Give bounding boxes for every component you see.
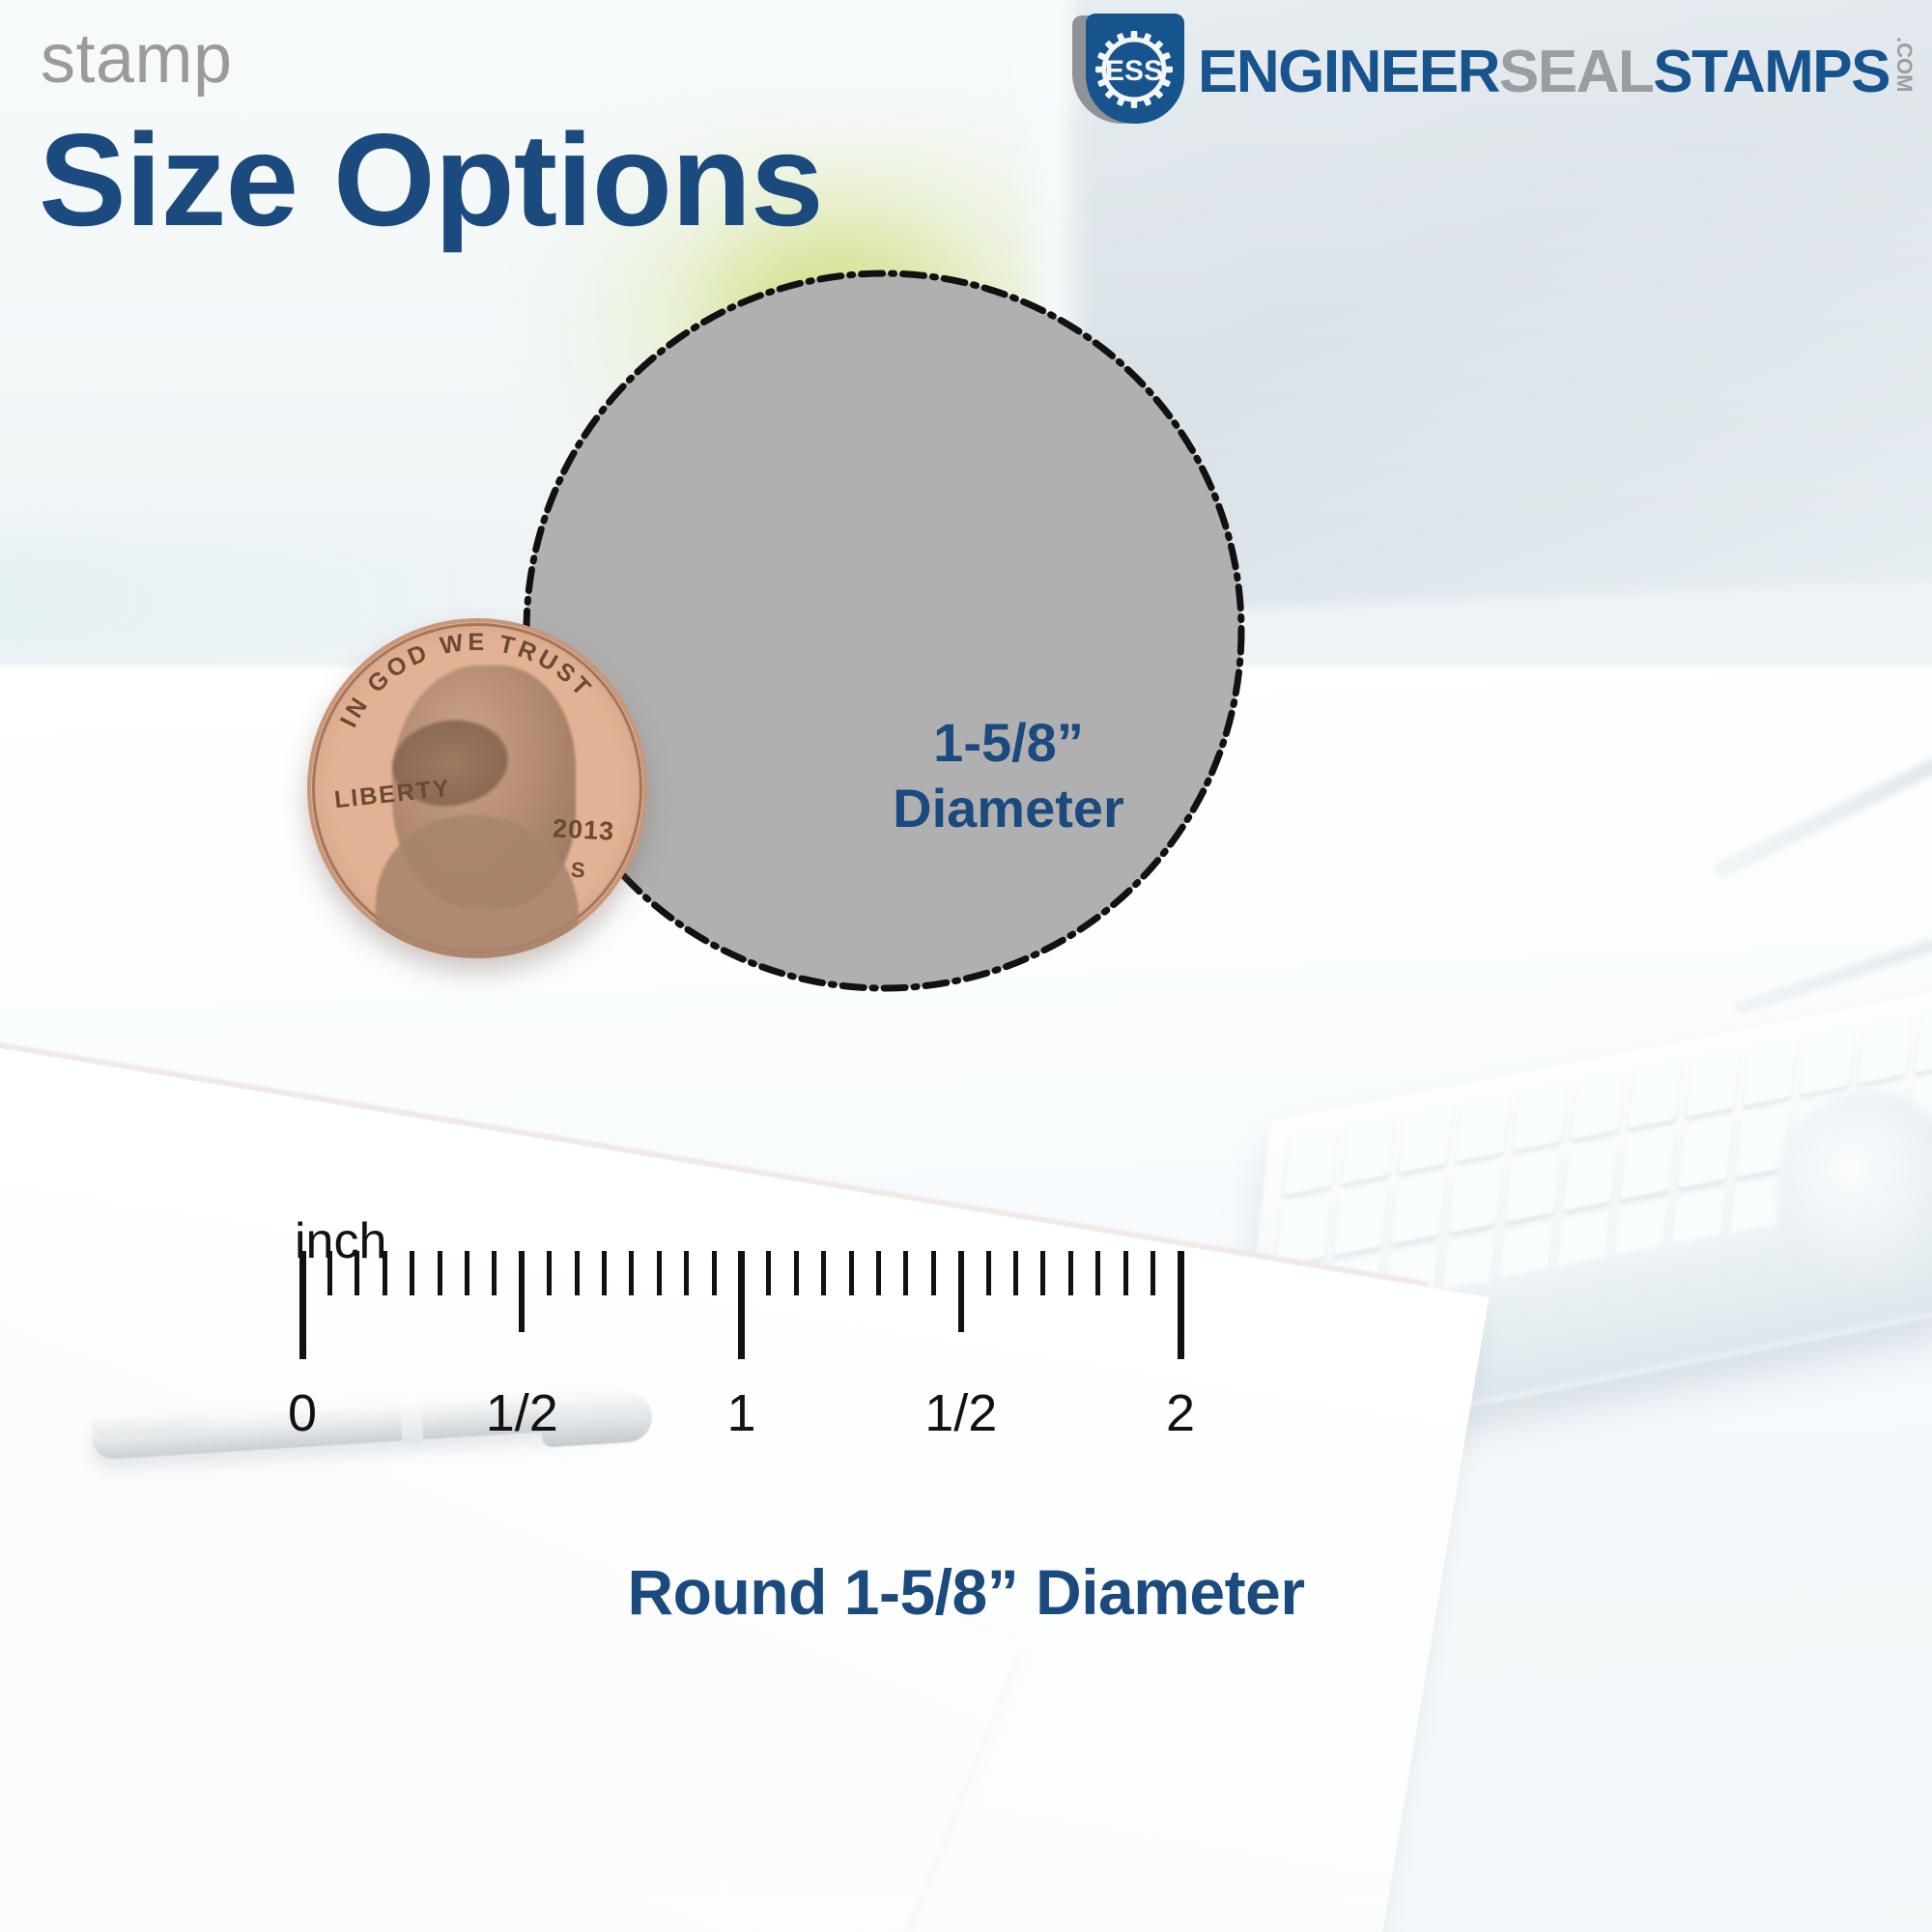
ruler-tick-minor bbox=[547, 1251, 552, 1295]
circle-size-value: 1-5/8” bbox=[933, 710, 1084, 776]
ess-badge: ESS bbox=[1072, 14, 1184, 126]
size-caption: Round 1-5/8” Diameter bbox=[0, 1555, 1932, 1629]
ruler-tick-minor bbox=[492, 1251, 497, 1295]
ruler-tick-minor bbox=[931, 1251, 936, 1295]
ruler-tick-minor bbox=[1013, 1251, 1018, 1295]
logo-wordmark: ENGINEERSEALSTAMPS.COM bbox=[1198, 37, 1915, 102]
ruler-tick-minor bbox=[986, 1251, 991, 1295]
ruler-tick-minor bbox=[876, 1251, 881, 1295]
ruler-label: 1/2 bbox=[486, 1383, 558, 1443]
ruler-tick-minor bbox=[1040, 1251, 1045, 1295]
logo-word-stamps: STAMPS bbox=[1653, 43, 1889, 102]
logo-tld: .COM bbox=[1893, 37, 1915, 92]
ruler-tick-half bbox=[958, 1251, 964, 1332]
ruler-tick-minor bbox=[766, 1251, 771, 1295]
ruler-tick-half bbox=[519, 1251, 525, 1332]
penny-coin: IN GOD WE TRUST LIBERTY 2013 S bbox=[307, 618, 647, 958]
ruler-tick-minor bbox=[575, 1251, 580, 1295]
ruler-tick-major bbox=[1178, 1251, 1184, 1359]
ruler-tick-minor bbox=[1095, 1251, 1100, 1295]
ruler-tick-minor bbox=[438, 1251, 442, 1295]
ruler-tick-major bbox=[299, 1251, 306, 1359]
ess-badge-text: ESS bbox=[1105, 55, 1163, 87]
ruler-tick-minor bbox=[383, 1251, 387, 1295]
ruler-tick-minor bbox=[1123, 1251, 1128, 1295]
circle-size-unit: Diameter bbox=[893, 776, 1124, 841]
ruler-tick-major bbox=[738, 1251, 745, 1359]
penny-year-text: 2013 bbox=[552, 813, 615, 846]
ruler-tick-minor bbox=[712, 1251, 717, 1295]
ruler-tick-minor bbox=[355, 1251, 359, 1295]
ruler-tick-minor bbox=[1068, 1251, 1073, 1295]
page-title: Size Options bbox=[39, 114, 823, 245]
ruler-label: 1/2 bbox=[924, 1383, 997, 1443]
ruler-tick-minor bbox=[327, 1251, 332, 1295]
ruler-tick-minor bbox=[903, 1251, 908, 1295]
penny-mint-mark: S bbox=[571, 858, 586, 884]
ruler-tick-minor bbox=[794, 1251, 799, 1295]
ruler-tick-minor bbox=[602, 1251, 607, 1295]
ruler-label: 1 bbox=[726, 1383, 755, 1443]
gear-icon: ESS bbox=[1092, 21, 1177, 118]
ruler-unit-label: inch bbox=[295, 1212, 386, 1270]
ruler-tick-minor bbox=[684, 1251, 689, 1295]
ess-logo[interactable]: ESS ENGINEERSEALSTAMPS.COM bbox=[1072, 14, 1915, 126]
penny-motto-arc: IN GOD WE TRUST bbox=[307, 630, 647, 765]
ruler-label: 2 bbox=[1166, 1383, 1195, 1443]
size-options-graphic: stamp Size Options bbox=[0, 0, 1932, 1932]
svg-text:IN GOD WE TRUST: IN GOD WE TRUST bbox=[335, 630, 598, 731]
ruler-tick-minor bbox=[1151, 1251, 1155, 1295]
penny-inscriptions: IN GOD WE TRUST LIBERTY 2013 S bbox=[307, 618, 647, 958]
logo-word-seal: SEAL bbox=[1499, 43, 1653, 102]
ruler-tick-minor bbox=[849, 1251, 854, 1295]
ruler-tick-minor bbox=[410, 1251, 414, 1295]
logo-word-engineer: ENGINEER bbox=[1198, 43, 1499, 102]
brand-word: stamp bbox=[41, 24, 233, 94]
ruler-label: 0 bbox=[288, 1383, 317, 1443]
penny-motto: IN GOD WE TRUST bbox=[307, 630, 647, 765]
ruler: inch 01/211/22 bbox=[0, 1236, 1932, 1488]
ruler-tick-minor bbox=[657, 1251, 662, 1295]
penny-liberty-text: LIBERTY bbox=[333, 775, 452, 814]
ruler-tick-minor bbox=[465, 1251, 469, 1295]
ruler-tick-minor bbox=[629, 1251, 634, 1295]
ruler-tick-minor bbox=[821, 1251, 826, 1295]
